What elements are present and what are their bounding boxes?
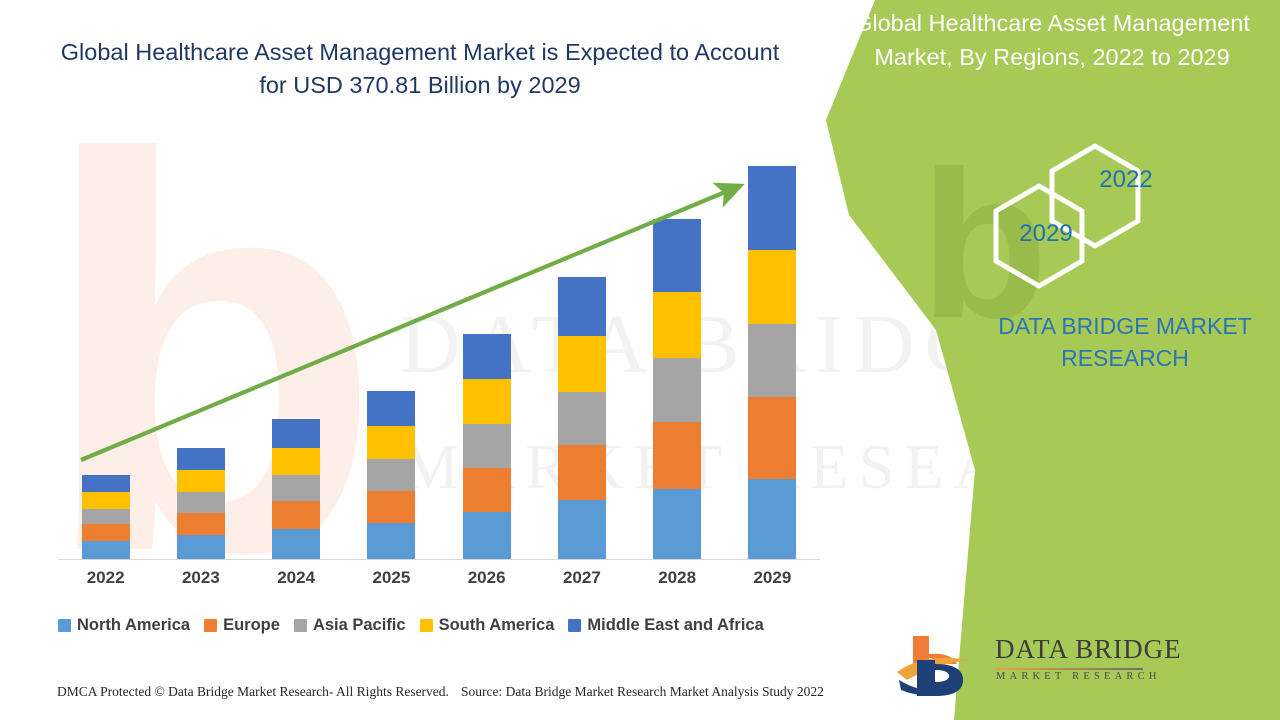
- bar-segment: [177, 492, 225, 513]
- bar-segment: [748, 250, 796, 324]
- logo-text-main: DATA BRIDGE: [995, 634, 1182, 665]
- bar-segment: [463, 468, 511, 512]
- bar-segment: [177, 470, 225, 492]
- legend-item[interactable]: North America: [58, 616, 190, 635]
- legend-swatch-icon: [204, 619, 217, 632]
- bar-segment: [748, 166, 796, 250]
- brand-name: DATA BRIDGE MARKET RESEARCH: [940, 310, 1280, 374]
- bar-2022: [82, 475, 130, 559]
- x-axis-label-2026: 2026: [447, 568, 527, 588]
- x-axis-labels: 20222023202420252026202720282029: [58, 568, 820, 594]
- hexagon-badges: 2022 2029: [975, 140, 1205, 305]
- bar-segment: [82, 541, 130, 559]
- bar-segment: [177, 535, 225, 559]
- bar-segment: [367, 426, 415, 460]
- bar-segment: [558, 336, 606, 392]
- bar-segment: [463, 424, 511, 467]
- logo-text-sub: MARKET RESEARCH: [996, 671, 1161, 682]
- logo-divider: [995, 668, 1143, 670]
- bar-segment: [272, 501, 320, 528]
- legend-swatch-icon: [58, 619, 71, 632]
- x-axis-label-2022: 2022: [66, 568, 146, 588]
- x-axis-label-2023: 2023: [161, 568, 241, 588]
- bar-segment: [272, 448, 320, 475]
- bar-segment: [82, 509, 130, 525]
- bar-segment: [748, 324, 796, 398]
- bar-segment: [82, 492, 130, 509]
- bar-segment: [653, 292, 701, 358]
- bar-segment: [272, 419, 320, 447]
- chart-legend: North AmericaEuropeAsia PacificSouth Ame…: [58, 616, 828, 635]
- x-axis-label-2028: 2028: [637, 568, 717, 588]
- logo-mark-icon: [895, 630, 991, 700]
- legend-item[interactable]: Asia Pacific: [294, 616, 406, 635]
- hexagon-label-2022: 2022: [1081, 166, 1171, 194]
- bar-segment: [367, 491, 415, 524]
- footer-source: Source: Data Bridge Market Research Mark…: [461, 684, 824, 700]
- bar-segment: [367, 459, 415, 491]
- bar-2025: [367, 391, 415, 559]
- infographic-canvas: b DATA BRIDGE MARKET RESEARCH Global Hea…: [0, 0, 1280, 720]
- bar-segment: [463, 334, 511, 379]
- bar-segment: [653, 489, 701, 559]
- x-axis-label-2024: 2024: [256, 568, 336, 588]
- bar-segment: [367, 391, 415, 426]
- bar-segment: [367, 523, 415, 559]
- bar-segment: [463, 512, 511, 559]
- legend-swatch-icon: [568, 619, 581, 632]
- growth-trend-arrow: [58, 150, 820, 560]
- bar-segment: [558, 277, 606, 336]
- legend-label: North America: [77, 616, 190, 635]
- legend-label: Europe: [223, 616, 280, 635]
- bar-2028: [653, 219, 701, 559]
- x-axis-line: [58, 559, 820, 560]
- panel-title: Global Healthcare Asset Management Marke…: [824, 6, 1280, 74]
- bar-segment: [82, 524, 130, 541]
- bar-segment: [82, 475, 130, 492]
- legend-item[interactable]: Middle East and Africa: [568, 616, 763, 635]
- chart-title: Global Healthcare Asset Management Marke…: [60, 36, 780, 102]
- bar-segment: [558, 392, 606, 446]
- hexagon-label-2029: 2029: [1001, 220, 1091, 248]
- bar-segment: [558, 445, 606, 500]
- bar-segment: [653, 422, 701, 488]
- bar-segment: [653, 219, 701, 292]
- bar-segment: [748, 397, 796, 479]
- x-axis-label-2025: 2025: [351, 568, 431, 588]
- bar-segment: [463, 379, 511, 424]
- legend-item[interactable]: Europe: [204, 616, 280, 635]
- bar-segment: [653, 358, 701, 422]
- bar-segment: [558, 500, 606, 559]
- bar-2029: [748, 166, 796, 559]
- legend-label: South America: [439, 616, 555, 635]
- bar-segment: [177, 448, 225, 470]
- legend-label: Asia Pacific: [313, 616, 406, 635]
- chart-plot-area: [58, 150, 820, 560]
- legend-item[interactable]: South America: [420, 616, 555, 635]
- footer-copyright: DMCA Protected © Data Bridge Market Rese…: [57, 684, 449, 700]
- bar-2027: [558, 277, 606, 559]
- bar-2026: [463, 334, 511, 559]
- data-bridge-logo: DATA BRIDGE MARKET RESEARCH: [895, 630, 1225, 700]
- bar-segment: [748, 479, 796, 559]
- legend-label: Middle East and Africa: [587, 616, 763, 635]
- legend-swatch-icon: [420, 619, 433, 632]
- bar-2024: [272, 419, 320, 559]
- x-axis-label-2027: 2027: [542, 568, 622, 588]
- bar-segment: [272, 529, 320, 559]
- bar-segment: [177, 513, 225, 535]
- x-axis-label-2029: 2029: [732, 568, 812, 588]
- bar-segment: [272, 475, 320, 501]
- legend-swatch-icon: [294, 619, 307, 632]
- bar-2023: [177, 448, 225, 559]
